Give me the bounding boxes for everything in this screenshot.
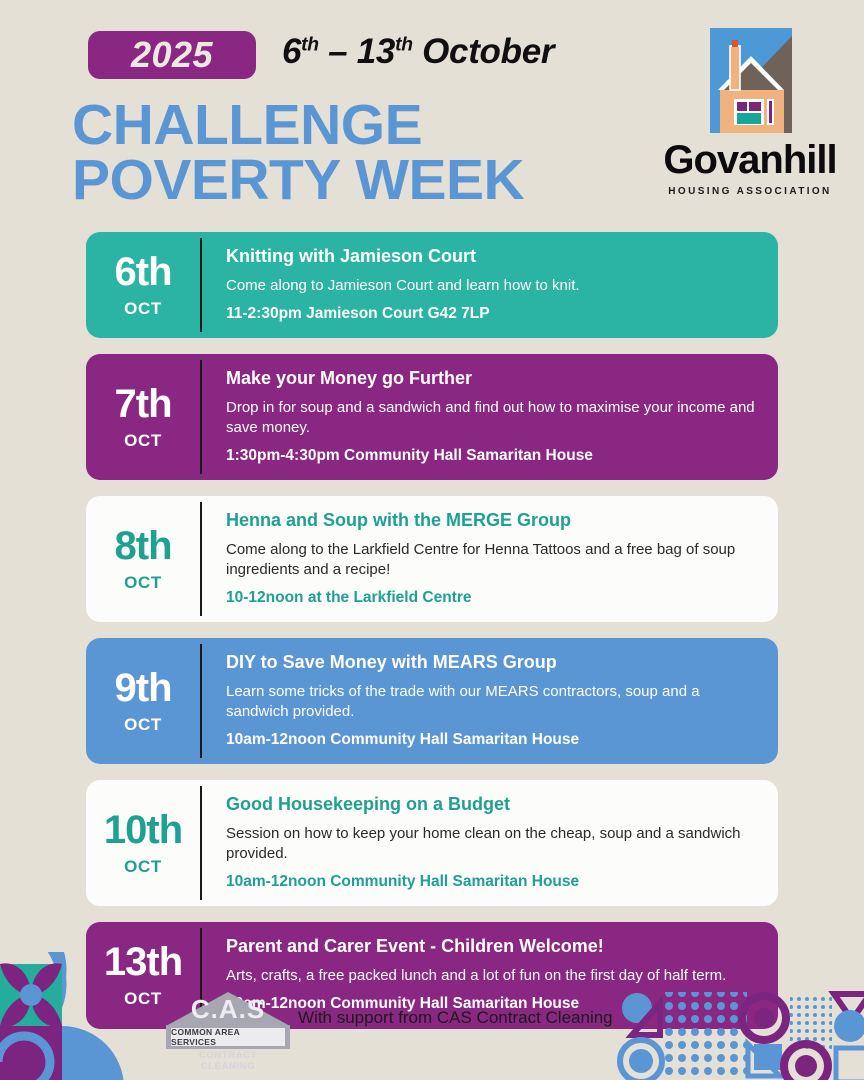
- date-range-separator: – 13: [319, 32, 395, 71]
- event-date: 6th OCT: [86, 232, 200, 338]
- event-description: Come along to Jamieson Court and learn h…: [226, 276, 756, 296]
- event-card: 9th OCT DIY to Save Money with MEARS Gro…: [86, 638, 778, 764]
- event-time-venue: 10-12noon at the Larkfield Centre: [226, 589, 756, 608]
- event-title: DIY to Save Money with MEARS Group: [226, 652, 756, 674]
- event-description: Learn some tricks of the trade with our …: [226, 682, 756, 722]
- event-title: Parent and Carer Event - Children Welcom…: [226, 936, 756, 958]
- page-title-line-2: POVERTY WEEK: [72, 153, 524, 208]
- event-time-venue: 10am-12noon Community Hall Samaritan Hou…: [226, 731, 756, 750]
- date-range-start: 6: [282, 32, 301, 71]
- date-range-start-suffix: th: [301, 34, 319, 55]
- event-title: Knitting with Jamieson Court: [226, 246, 756, 268]
- event-body: Make your Money go Further Drop in for s…: [202, 354, 778, 480]
- event-body: DIY to Save Money with MEARS Group Learn…: [202, 638, 778, 764]
- event-title: Make your Money go Further: [226, 368, 756, 390]
- event-month: OCT: [124, 299, 162, 319]
- event-description: Drop in for soup and a sandwich and find…: [226, 398, 756, 438]
- cas-tagline: CONTRACT CLEANING: [180, 1050, 276, 1072]
- event-day: 9th: [115, 668, 172, 708]
- govanhill-subtitle: HOUSING ASSOCIATION: [650, 186, 850, 197]
- event-title: Henna and Soup with the MERGE Group: [226, 510, 756, 532]
- event-card: 6th OCT Knitting with Jamieson Court Com…: [86, 232, 778, 338]
- page-title: CHALLENGE POVERTY WEEK: [72, 98, 524, 209]
- event-body: Knitting with Jamieson Court Come along …: [202, 232, 778, 338]
- event-date: 10th OCT: [86, 780, 200, 906]
- event-month: OCT: [124, 715, 162, 735]
- event-body: Good Housekeeping on a Budget Session on…: [202, 780, 778, 906]
- poster-footer: C.A.S COMMON AREA SERVICES CONTRACT CLEA…: [0, 980, 864, 1080]
- cas-logo: C.A.S COMMON AREA SERVICES CONTRACT CLEA…: [158, 988, 298, 1066]
- poster-header: 2025 6th – 13th October CHALLENGE POVERT…: [0, 0, 864, 228]
- cas-initials: C.A.S: [158, 994, 298, 1025]
- year-badge: 2025: [88, 31, 256, 79]
- event-card: 8th OCT Henna and Soup with the MERGE Gr…: [86, 496, 778, 622]
- poster-root: 2025 6th – 13th October CHALLENGE POVERT…: [0, 0, 864, 1080]
- govanhill-wordmark: Govanhill: [650, 140, 850, 180]
- event-body: Henna and Soup with the MERGE Group Come…: [202, 496, 778, 622]
- event-date: 7th OCT: [86, 354, 200, 480]
- event-day: 7th: [115, 384, 172, 424]
- cas-name-label: COMMON AREA SERVICES: [171, 1027, 285, 1047]
- date-range-month: October: [413, 32, 555, 71]
- event-month: OCT: [124, 857, 162, 877]
- event-date: 8th OCT: [86, 496, 200, 622]
- event-description: Session on how to keep your home clean o…: [226, 824, 756, 864]
- event-day: 13th: [104, 942, 182, 982]
- event-month: OCT: [124, 431, 162, 451]
- cas-name-plate: COMMON AREA SERVICES: [171, 1028, 285, 1046]
- event-title: Good Housekeeping on a Budget: [226, 794, 756, 816]
- event-day: 6th: [115, 252, 172, 292]
- event-card: 7th OCT Make your Money go Further Drop …: [86, 354, 778, 480]
- event-card: 10th OCT Good Housekeeping on a Budget S…: [86, 780, 778, 906]
- event-time-venue: 10am-12noon Community Hall Samaritan Hou…: [226, 873, 756, 892]
- event-time-venue: 1:30pm-4:30pm Community Hall Samaritan H…: [226, 447, 756, 466]
- event-date: 9th OCT: [86, 638, 200, 764]
- date-range: 6th – 13th October: [282, 32, 554, 72]
- govanhill-house-icon: [710, 28, 792, 133]
- support-credit: With support from CAS Contract Cleaning: [298, 1008, 613, 1028]
- events-list: 6th OCT Knitting with Jamieson Court Com…: [0, 232, 864, 1045]
- date-range-end-suffix: th: [395, 34, 413, 55]
- event-description: Come along to the Larkfield Centre for H…: [226, 540, 756, 580]
- event-day: 8th: [115, 526, 172, 566]
- govanhill-logo: Govanhill HOUSING ASSOCIATION: [650, 28, 850, 208]
- event-month: OCT: [124, 573, 162, 593]
- event-day: 10th: [104, 810, 182, 850]
- year-badge-label: 2025: [131, 34, 213, 76]
- event-time-venue: 11-2:30pm Jamieson Court G42 7LP: [226, 305, 756, 324]
